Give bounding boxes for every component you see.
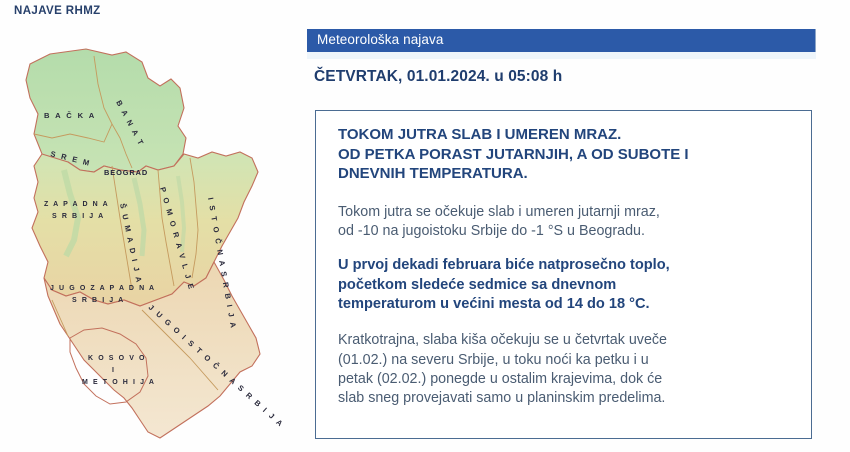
bulletin-paragraph-frost: Tokom jutra se očekuje slab i umeren jut… <box>338 203 795 242</box>
serbia-map-image[interactable]: B A Č K A B A N A T S R E M BEOGRAD Z A … <box>8 42 298 447</box>
map-label-kosovo-i: I <box>112 367 116 374</box>
bulletin-paragraph-headline: TOKOM JUTRA SLAB I UMEREN MRAZ. OD PETKA… <box>338 125 795 184</box>
map-label-zapadna-srbija-line2: S R B I J A <box>52 213 105 220</box>
bulletin-paragraph-precipitation: Kratkotrajna, slaba kiša očekuju se u če… <box>338 331 795 408</box>
map-label-jugozapadna-srbija-line1: J U G O Z A P A D N A <box>50 285 156 292</box>
map-label-jugozapadna-srbija-line2: S R B I J A <box>72 297 125 304</box>
serbia-map-container[interactable]: B A Č K A B A N A T S R E M BEOGRAD Z A … <box>8 42 298 447</box>
map-label-kosovo: K O S O V O <box>88 355 146 362</box>
bulletin-header-bar: Meteorološka najava <box>307 29 816 52</box>
bulletin-paragraph-warm-spell: U prvoj dekadi februara biće natprosečno… <box>338 256 795 314</box>
page-title: NAJAVE RHMZ <box>14 5 101 17</box>
map-label-metohija: M E T O H I J A <box>82 379 156 386</box>
bulletin-date-line: ČETVRTAK, 01.01.2024. u 05:08 h <box>314 68 562 86</box>
map-label-beograd: BEOGRAD <box>104 168 148 177</box>
header-underbar <box>307 52 816 59</box>
bulletin-header-label: Meteorološka najava <box>317 32 443 47</box>
bulletin-pane: Meteorološka najava ČETVRTAK, 01.01.2024… <box>300 0 850 452</box>
map-label-zapadna-srbija-line1: Z A P A D N A <box>44 201 109 208</box>
map-label-backa: B A Č K A <box>44 111 96 120</box>
bulletin-body: TOKOM JUTRA SLAB I UMEREN MRAZ. OD PETKA… <box>338 125 795 409</box>
left-pane: NAJAVE RHMZ <box>0 0 300 452</box>
bulletin-content-box: TOKOM JUTRA SLAB I UMEREN MRAZ. OD PETKA… <box>315 110 812 439</box>
